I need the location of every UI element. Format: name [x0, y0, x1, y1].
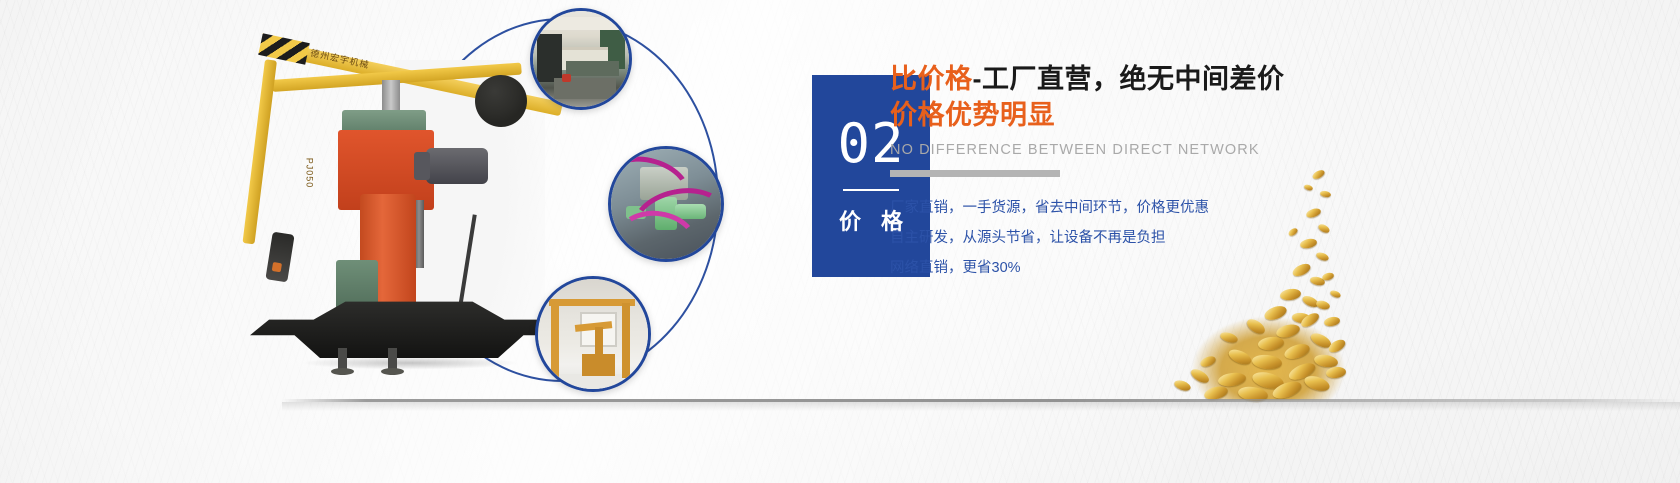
headline-highlight: 比价格 [890, 64, 973, 94]
gold-coin [1305, 207, 1322, 219]
gold-coin [1299, 237, 1317, 249]
shelf-line [282, 399, 1680, 402]
gold-coin [1329, 289, 1341, 299]
gold-coin [1317, 222, 1331, 234]
product-visual-group: 德州宏宇机械 PJ050 [0, 0, 760, 420]
photo-pneumatic-valves [608, 146, 724, 262]
gold-coins-image [1160, 165, 1350, 400]
gold-coin [1311, 168, 1326, 180]
headline-rest: -工厂直营，绝无中间差价 [973, 64, 1285, 94]
headline-line-2: 价格优势明显 [890, 98, 1410, 134]
crane-leveling-foot [338, 348, 347, 372]
gold-coin [1303, 184, 1313, 192]
gold-coin [1315, 251, 1330, 262]
photo-machine-shop [530, 8, 632, 110]
gold-coin [1321, 271, 1334, 281]
crane-motor [426, 148, 488, 184]
gold-coin [1279, 288, 1301, 302]
promo-banner: 德州宏宇机械 PJ050 02 价 格 [0, 0, 1680, 483]
crane-gripper [265, 232, 294, 283]
crane-model-text: PJ050 [304, 158, 314, 189]
gold-coin [1319, 190, 1331, 198]
crane-base-frame [250, 298, 568, 358]
gold-coin [1287, 227, 1299, 238]
crane-vertical-arm [242, 59, 276, 244]
gold-coin [1291, 261, 1312, 278]
divider-bar [890, 170, 1060, 177]
decorative-dot [475, 75, 527, 127]
headline-line-1: 比价格-工厂直营，绝无中间差价 [890, 62, 1410, 98]
photo-gantry-manipulator [535, 276, 651, 392]
subtitle-english: NO DIFFERENCE BETWEEN DIRECT NETWORK [890, 142, 1410, 158]
crane-leveling-foot [388, 348, 397, 372]
